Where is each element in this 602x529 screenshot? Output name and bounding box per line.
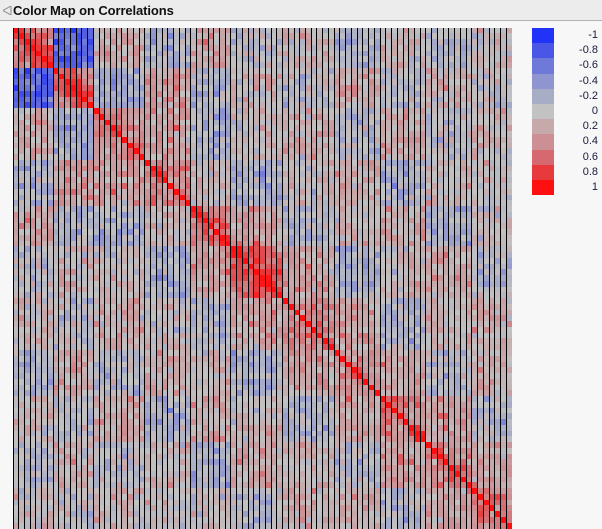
legend-swatch [532, 43, 554, 58]
legend-swatch [532, 134, 554, 149]
legend-label: -0.6 [556, 58, 598, 73]
legend-label: 1 [556, 180, 598, 195]
heatmap-canvas[interactable] [13, 28, 512, 529]
plot-area: -1-0.8-0.6-0.4-0.200.20.40.60.81 [0, 21, 602, 529]
legend-swatch [532, 28, 554, 43]
legend-swatch [532, 119, 554, 134]
legend-swatch [532, 150, 554, 165]
legend-label: -0.8 [556, 43, 598, 58]
legend-label: -0.2 [556, 89, 598, 104]
page-title: Color Map on Correlations [13, 0, 174, 21]
legend-swatch [532, 58, 554, 73]
legend-swatch-column [532, 28, 554, 195]
legend-swatch [532, 104, 554, 119]
legend-swatch [532, 74, 554, 89]
legend-label: 0.8 [556, 165, 598, 180]
legend-swatch [532, 180, 554, 195]
legend-swatch [532, 165, 554, 180]
legend-swatch [532, 89, 554, 104]
legend-label: -1 [556, 28, 598, 43]
legend-label: 0.2 [556, 119, 598, 134]
outline-title-bar[interactable]: Color Map on Correlations [0, 0, 602, 21]
legend-label-column: -1-0.8-0.6-0.4-0.200.20.40.60.81 [556, 28, 598, 195]
correlation-heatmap[interactable] [13, 28, 512, 529]
legend-label: 0 [556, 104, 598, 119]
legend-label: 0.6 [556, 150, 598, 165]
triangle-down-icon[interactable] [0, 0, 13, 21]
legend-label: 0.4 [556, 134, 598, 149]
legend-label: -0.4 [556, 74, 598, 89]
color-legend: -1-0.8-0.6-0.4-0.200.20.40.60.81 [532, 28, 598, 198]
